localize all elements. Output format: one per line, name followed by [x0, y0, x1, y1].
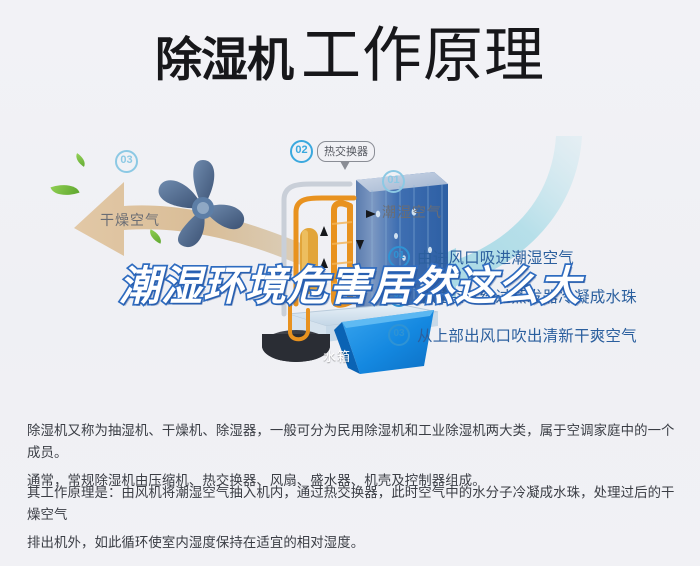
step-badge: 02 — [388, 285, 410, 307]
leaf-icon — [73, 153, 88, 167]
step-list: 01 由进风口吸进潮湿空气 02 潮湿空气经过蒸发器冷凝成水珠 03 从上部出风… — [388, 246, 688, 363]
paragraph-2-line-2: 排出机外，如此循环使室内湿度保持在适宜的相对湿度。 — [27, 532, 677, 554]
step-badge: 03 — [388, 324, 410, 346]
list-item: 01 由进风口吸进潮湿空气 — [388, 246, 688, 268]
step-badge: 01 — [388, 246, 410, 268]
heat-exchanger-callout: 热交换器 — [317, 141, 375, 162]
page-title: 除湿机工作原理 — [0, 26, 700, 86]
paragraph-2-line-1: 其工作原理是：由风机将潮湿空气抽入机内，通过热交换器，此时空气中的水分子冷凝成水… — [27, 482, 677, 525]
badge-02: 02 — [290, 140, 313, 163]
badge-03: 03 — [115, 150, 138, 173]
paragraph-1-line-1: 除湿机又称为抽湿机、干燥机、除湿器，一般可分为民用除湿机和工业除湿机两大类，属于… — [27, 420, 677, 463]
diagram-label-dry-air-number: 03 — [115, 150, 138, 173]
diagram-label-dry-air: 干燥空气 — [100, 210, 160, 230]
diagram-label-humid-air-number: 01 — [382, 170, 405, 193]
description-paragraph-2: 其工作原理是：由风机将潮湿空气抽入机内，通过热交换器，此时空气中的水分子冷凝成水… — [27, 482, 677, 561]
list-item: 02 潮湿空气经过蒸发器冷凝成水珠 — [388, 285, 688, 307]
infographic-page: 除湿机工作原理 — [0, 0, 700, 566]
badge-01: 01 — [382, 170, 405, 193]
step-label: 潮湿空气经过蒸发器冷凝成水珠 — [417, 285, 637, 307]
diagram-label-heat-exchanger: 02 热交换器 — [290, 140, 375, 163]
list-item: 03 从上部出风口吹出清新干爽空气 — [388, 324, 688, 346]
step-label: 从上部出风口吹出清新干爽空气 — [417, 324, 637, 346]
step-label: 由进风口吸进潮湿空气 — [417, 246, 574, 268]
diagram-label-humid-air: 潮湿空气 — [382, 202, 442, 222]
page-title-part2: 工作原理 — [301, 22, 545, 89]
diagram-label-water-tank: 水箱 — [323, 346, 351, 365]
page-title-part1: 除湿机 — [155, 33, 293, 86]
fan-icon — [148, 158, 258, 258]
